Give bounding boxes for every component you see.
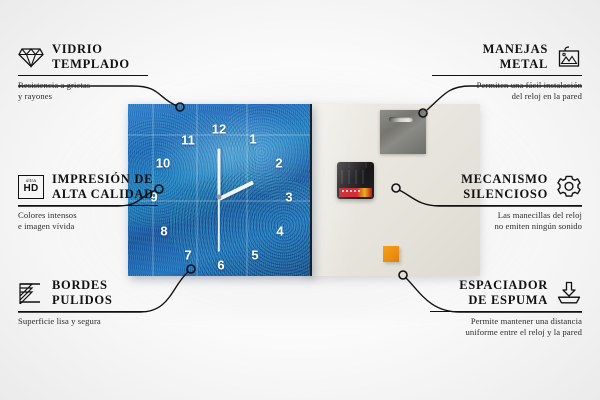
- feature-desc-line-2: y rayones: [18, 91, 148, 103]
- clock-numeral-6: 6: [217, 259, 224, 272]
- feature-desc-line-2: no emiten ningún sonido: [434, 221, 582, 233]
- feature-header: ESPACIADOR DE ESPUMA: [430, 278, 582, 308]
- feature-manejas-metal: MANEJAS METAL Permiten una fácil instala…: [432, 42, 582, 103]
- clock-numeral-11: 11: [181, 134, 195, 147]
- feature-header: ultra HD IMPRESIÓN DE ALTA CALIDAD: [18, 172, 158, 202]
- feature-title: MANEJAS METAL: [483, 42, 548, 72]
- feature-header: BORDES PULIDOS: [18, 278, 148, 308]
- polished-edges-icon: [18, 280, 44, 306]
- feature-header: MECANISMO SILENCIOSO: [434, 172, 582, 202]
- feature-desc-line-2: uniforme entre el reloj y la pared: [430, 327, 582, 339]
- metal-hanger-plate-icon: [380, 110, 426, 154]
- picture-frame-hanger-icon: [556, 44, 582, 70]
- feature-title-line-1: MANEJAS: [483, 42, 548, 57]
- product-image: 12 1 2 3 4 5 6 7 8 9 10 11: [128, 104, 480, 276]
- clock-numeral-7: 7: [184, 249, 191, 262]
- feature-divider: [434, 205, 582, 206]
- feature-title-line-2: PULIDOS: [52, 293, 112, 308]
- ultra-hd-box: ultra HD: [18, 175, 44, 199]
- feature-desc-line-2: del reloj en la pared: [432, 91, 582, 103]
- foam-spacer-square: [383, 246, 399, 262]
- clock-numeral-3: 3: [285, 191, 292, 204]
- mechanism-label-sticker: [339, 188, 372, 197]
- feature-desc-line-1: Permite mantener una distancia: [430, 316, 582, 328]
- feature-desc-line-1: Permiten una fácil instalación: [432, 80, 582, 92]
- feature-title-line-1: MECANISMO: [461, 172, 548, 187]
- feature-desc-line-2: e imagen vívida: [18, 221, 158, 233]
- grid-line-v3: [246, 104, 248, 276]
- feature-title: ESPACIADOR DE ESPUMA: [459, 278, 548, 308]
- wave-pattern-2: [159, 158, 312, 276]
- feature-description: Superficie lisa y segura: [18, 316, 148, 328]
- feature-title: BORDES PULIDOS: [52, 278, 112, 308]
- feature-title-line-2: METAL: [483, 57, 548, 72]
- clock-numeral-5: 5: [251, 249, 258, 262]
- clock-second-hand: [218, 198, 220, 252]
- feature-title-line-1: ESPACIADOR: [459, 278, 548, 293]
- feature-espaciador-de-espuma: ESPACIADOR DE ESPUMA Permite mantener un…: [430, 278, 582, 339]
- clock-numeral-12: 12: [212, 123, 226, 136]
- feature-title-line-2: TEMPLADO: [52, 57, 130, 72]
- feature-impresion-alta-calidad: ultra HD IMPRESIÓN DE ALTA CALIDAD Color…: [18, 172, 158, 233]
- clock-numeral-2: 2: [275, 157, 282, 170]
- feature-description: Colores intensos e imagen vívida: [18, 210, 158, 233]
- feature-desc-line-1: Colores intensos: [18, 210, 158, 222]
- feature-bordes-pulidos: BORDES PULIDOS Superficie lisa y segura: [18, 278, 148, 327]
- grid-line-v2: [196, 104, 198, 276]
- clock-numeral-8: 8: [160, 225, 167, 238]
- product-infographic: 12 1 2 3 4 5 6 7 8 9 10 11: [0, 0, 600, 400]
- feature-description: Las manecillas del reloj no emiten ningú…: [434, 210, 582, 233]
- feature-title-line-2: SILENCIOSO: [461, 187, 548, 202]
- feature-desc-line-1: Las manecillas del reloj: [434, 210, 582, 222]
- clock-mechanism-box: [337, 162, 374, 199]
- feature-vidrio-templado: VIDRIO TEMPLADO Resistencia a grietas y …: [18, 42, 148, 103]
- feature-divider: [430, 311, 582, 312]
- feature-divider: [18, 205, 158, 206]
- feature-title-line-1: VIDRIO: [52, 42, 130, 57]
- clock-minute-hand: [218, 149, 221, 199]
- gear-icon: [556, 174, 582, 200]
- feature-header: MANEJAS METAL: [432, 42, 582, 72]
- feature-description: Permiten una fácil instalación del reloj…: [432, 80, 582, 103]
- keyhole-slot-icon: [389, 117, 413, 122]
- hanger-loop-icon: [348, 162, 367, 168]
- feature-desc-line-1: Resistencia a grietas: [18, 80, 148, 92]
- feature-header: VIDRIO TEMPLADO: [18, 42, 148, 72]
- feature-title: VIDRIO TEMPLADO: [52, 42, 130, 72]
- feature-divider: [18, 311, 148, 312]
- feature-description: Resistencia a grietas y rayones: [18, 80, 148, 103]
- feature-title-line-1: IMPRESIÓN DE: [52, 172, 154, 187]
- clock-numeral-4: 4: [276, 225, 283, 238]
- ultra-hd-large-label: HD: [23, 184, 38, 194]
- feature-desc-line-1: Superficie lisa y segura: [18, 316, 148, 328]
- clock-hour-hand: [218, 181, 254, 201]
- clock-numeral-1: 1: [249, 133, 256, 146]
- feature-divider: [432, 75, 582, 76]
- feature-title: MECANISMO SILENCIOSO: [461, 172, 548, 202]
- diamond-icon: [18, 44, 44, 70]
- feature-description: Permite mantener una distancia uniforme …: [430, 316, 582, 339]
- ultra-hd-icon: ultra HD: [18, 174, 44, 200]
- feature-title-line-2: ALTA CALIDAD: [52, 187, 154, 202]
- mechanism-detail: [341, 170, 367, 184]
- clock-numeral-10: 10: [156, 157, 170, 170]
- feature-title-line-2: DE ESPUMA: [459, 293, 548, 308]
- feature-title-line-1: BORDES: [52, 278, 112, 293]
- feature-divider: [18, 75, 148, 76]
- feature-mecanismo-silencioso: MECANISMO SILENCIOSO Las manecillas del …: [434, 172, 582, 233]
- feature-title: IMPRESIÓN DE ALTA CALIDAD: [52, 172, 154, 202]
- clock-center-hub: [217, 195, 222, 200]
- foam-spacer-arrow-icon: [556, 280, 582, 306]
